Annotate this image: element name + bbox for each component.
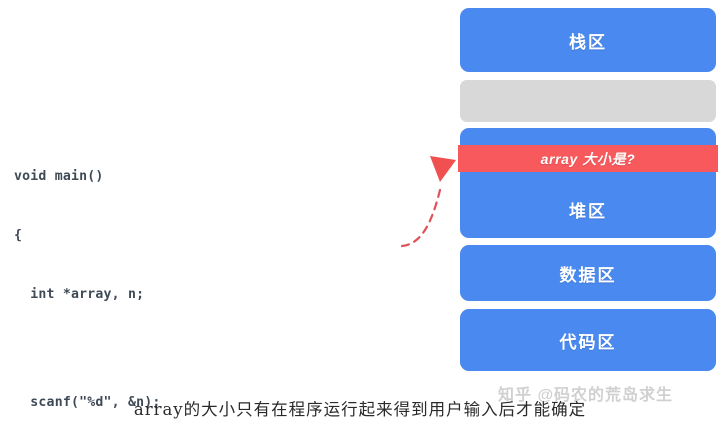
code-line: { [14,226,434,246]
code-line-blank [14,344,434,354]
code-line: int *array, n; [14,285,434,305]
memory-block-label: 栈区 [569,28,607,53]
array-size-highlight-band: array 大小是? [458,145,718,172]
memory-block-code: 代码区 [460,309,716,371]
code-listing: void main() { int *array, n; scanf("%d",… [14,128,434,437]
memory-block-label: 堆区 [569,197,607,222]
diagram-canvas: void main() { int *array, n; scanf("%d",… [0,0,720,437]
watermark-text: 知乎 @码农的荒岛求生 [498,381,673,405]
memory-block-label: 代码区 [560,328,617,353]
memory-layout-column: 栈区 堆区 array 大小是? 数据区 代码区 [458,0,718,380]
memory-block-stack: 栈区 [460,8,716,72]
array-size-question-text: array 大小是? [541,149,636,169]
code-line: void main() [14,167,434,187]
memory-block-gap [460,80,716,122]
memory-block-label: 数据区 [560,261,617,286]
memory-block-data: 数据区 [460,245,716,301]
